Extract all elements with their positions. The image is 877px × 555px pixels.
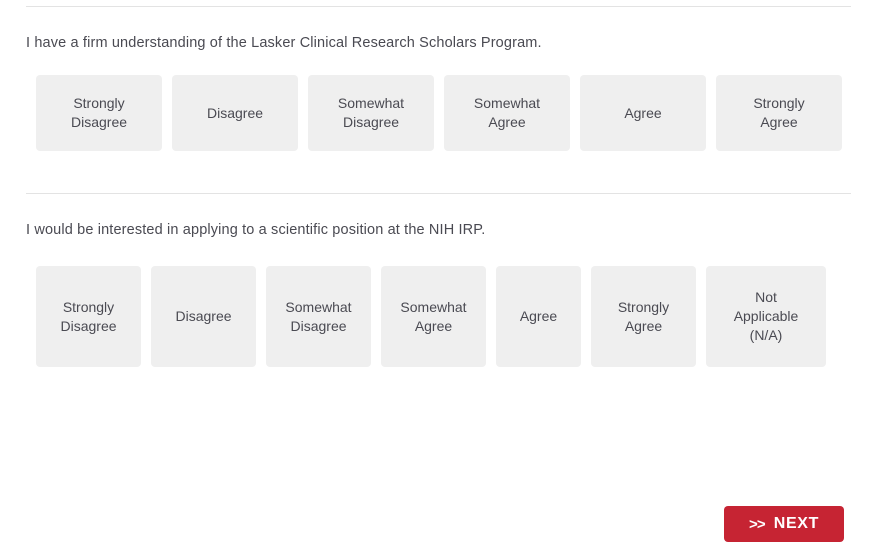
survey-page: I have a firm understanding of the Laske… <box>0 6 877 555</box>
option-strongly-agree[interactable]: Strongly Agree <box>591 266 696 367</box>
question-text-2: I would be interested in applying to a s… <box>26 194 851 240</box>
option-strongly-disagree[interactable]: Strongly Disagree <box>36 75 162 151</box>
section-spacer <box>0 151 877 193</box>
survey-footer: >> NEXT <box>724 506 844 542</box>
option-agree[interactable]: Agree <box>496 266 581 367</box>
question-block-2: I would be interested in applying to a s… <box>0 194 877 367</box>
next-button[interactable]: >> NEXT <box>724 506 844 542</box>
option-somewhat-agree[interactable]: Somewhat Agree <box>381 266 486 367</box>
option-disagree[interactable]: Disagree <box>151 266 256 367</box>
option-somewhat-agree[interactable]: Somewhat Agree <box>444 75 570 151</box>
option-somewhat-disagree[interactable]: Somewhat Disagree <box>308 75 434 151</box>
question-text-1: I have a firm understanding of the Laske… <box>26 7 851 53</box>
option-strongly-disagree[interactable]: Strongly Disagree <box>36 266 141 367</box>
option-somewhat-disagree[interactable]: Somewhat Disagree <box>266 266 371 367</box>
options-row-1: Strongly Disagree Disagree Somewhat Disa… <box>36 75 851 151</box>
question-block-1: I have a firm understanding of the Laske… <box>0 7 877 151</box>
next-button-label: NEXT <box>774 515 819 533</box>
option-agree[interactable]: Agree <box>580 75 706 151</box>
options-row-2: Strongly Disagree Disagree Somewhat Disa… <box>36 266 851 367</box>
option-not-applicable[interactable]: Not Applicable (N/A) <box>706 266 826 367</box>
option-disagree[interactable]: Disagree <box>172 75 298 151</box>
double-chevron-right-icon: >> <box>749 516 765 533</box>
option-strongly-agree[interactable]: Strongly Agree <box>716 75 842 151</box>
